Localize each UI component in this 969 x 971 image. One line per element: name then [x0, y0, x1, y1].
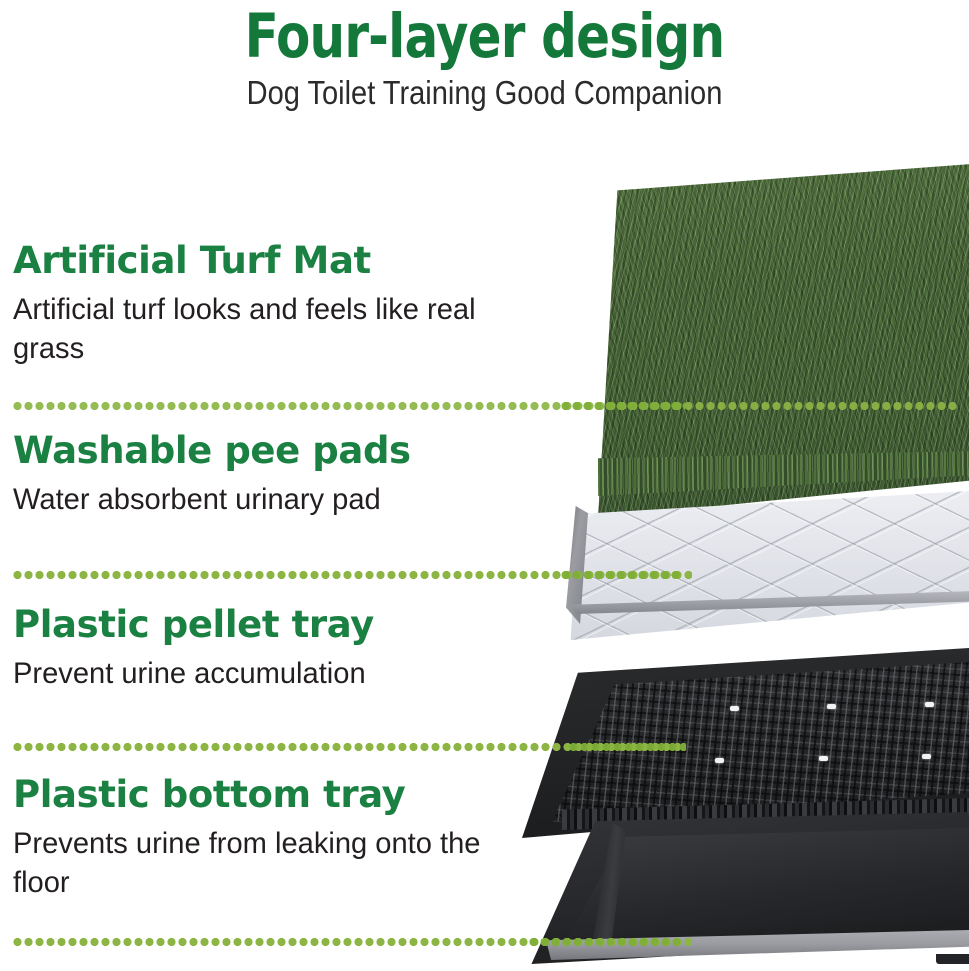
pellet-tray-front-teeth	[562, 798, 969, 830]
bottom-tray-inner-basin	[542, 828, 969, 938]
section-divider-overlay	[560, 402, 685, 410]
section-divider-overlay	[560, 571, 680, 579]
turf-fiber-edge	[598, 450, 969, 496]
pellet-tray-drain-slot	[819, 756, 828, 761]
feature-description: Prevents urine from leaking onto the flo…	[13, 824, 517, 902]
feature-description: Artificial turf looks and feels like rea…	[13, 290, 517, 368]
section-divider-overlay	[568, 743, 686, 751]
product-layer-artificial-turf-mat	[598, 158, 969, 518]
pellet-tray-drain-slot	[730, 706, 739, 711]
feature-description: Prevent urine accumulation	[13, 654, 517, 693]
feature-title: Washable pee pads	[13, 428, 533, 473]
product-layer-washable-pee-pad	[556, 490, 969, 640]
pellet-tray-drain-slot	[827, 704, 836, 709]
bottom-tray-foot	[936, 954, 969, 964]
feature-block-plastic-pellet-tray: Plastic pellet tray Prevent urine accumu…	[13, 602, 533, 693]
section-divider-overlay	[528, 938, 683, 946]
feature-block-artificial-turf-mat: Artificial Turf Mat Artificial turf look…	[13, 238, 533, 368]
feature-block-plastic-bottom-tray: Plastic bottom tray Prevents urine from …	[13, 772, 533, 902]
pellet-tray-drain-slot	[925, 702, 934, 707]
pee-pad-binding-left	[566, 506, 588, 624]
page-subtitle: Dog Toilet Training Good Companion	[58, 74, 911, 112]
feature-title: Artificial Turf Mat	[13, 238, 533, 283]
header: Four-layer design Dog Toilet Training Go…	[0, 0, 969, 126]
pellet-tray-cone-grid	[552, 662, 969, 822]
pee-pad-quilted-surface	[556, 490, 969, 640]
bottom-tray-left-rim	[592, 820, 626, 956]
feature-title: Plastic pellet tray	[13, 602, 533, 647]
pellet-tray-drain-slot	[715, 758, 724, 763]
page-title: Four-layer design	[87, 4, 882, 70]
feature-title: Plastic bottom tray	[13, 772, 533, 817]
feature-block-washable-pee-pad: Washable pee pads Water absorbent urinar…	[13, 428, 533, 519]
pee-pad-binding-bottom	[570, 590, 969, 614]
section-divider	[12, 402, 957, 410]
pellet-tray-drain-slot	[922, 754, 931, 759]
feature-description: Water absorbent urinary pad	[13, 480, 517, 519]
turf-surface	[598, 158, 969, 518]
